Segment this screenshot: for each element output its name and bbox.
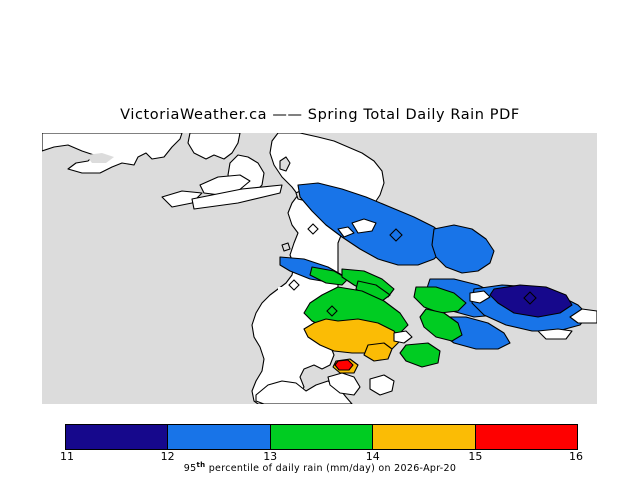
colorbar[interactable] — [65, 424, 578, 450]
map-canvas[interactable] — [42, 133, 597, 404]
map-panel[interactable] — [42, 133, 597, 404]
colorbar-band-12-13[interactable] — [167, 425, 269, 449]
weather-map-page: VictoriaWeather.ca —— Spring Total Daily… — [0, 0, 640, 480]
colorbar-band-14-15[interactable] — [372, 425, 474, 449]
colorbar-band-11-12[interactable] — [66, 425, 167, 449]
mask-left-white — [278, 287, 296, 383]
colorbar-caption-rest: percentile of daily rain (mm/day) on 202… — [205, 463, 456, 474]
colorbar-band-15-16[interactable] — [475, 425, 577, 449]
colorbar-caption-prefix: 95 — [184, 463, 197, 474]
colorbar-caption: 95th percentile of daily rain (mm/day) o… — [0, 461, 640, 474]
colorbar-bands[interactable] — [65, 424, 578, 450]
colorbar-band-13-14[interactable] — [270, 425, 372, 449]
page-title: VictoriaWeather.ca —— Spring Total Daily… — [0, 107, 640, 123]
lake-detail-b — [282, 243, 290, 251]
